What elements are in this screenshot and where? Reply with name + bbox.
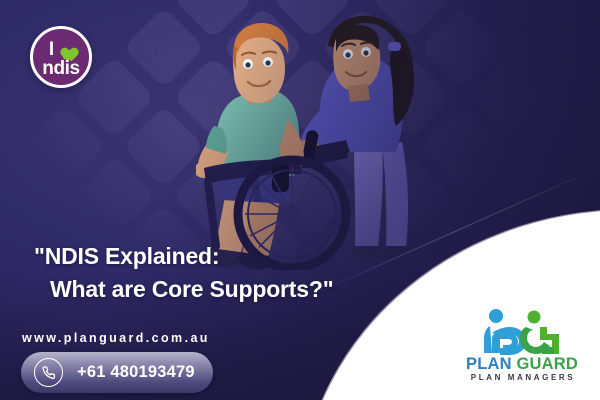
plan-guard-tagline: PLAN MANAGERS [456, 374, 588, 382]
page-title: "NDIS Explained: What are Core Supports?… [34, 240, 434, 305]
ndis-logo-dot-icon [63, 55, 67, 59]
ndis-logo-i-text: I [49, 40, 54, 59]
plan-guard-wordmark: PLAN GUARD [456, 356, 588, 373]
phone-number: +61 480193479 [77, 363, 195, 382]
ndis-logo-top-row: I [49, 39, 73, 60]
phone-icon [34, 358, 63, 387]
ndis-promo-banner: I ndis "NDIS Explained: What are Core Su… [0, 0, 600, 400]
website-url[interactable]: www.planguard.com.au [22, 331, 210, 345]
headline-line-2: What are Core Supports?" [34, 273, 434, 306]
ndis-logo-wordmark: ndis [42, 59, 79, 78]
headline-line-1: "NDIS Explained: [34, 243, 219, 269]
ndis-logo-word-text: ndis [42, 58, 79, 79]
plan-guard-word-guard: GUARD [517, 355, 579, 373]
plan-guard-logo: PLAN GUARD PLAN MANAGERS [456, 307, 588, 383]
phone-contact-pill[interactable]: +61 480193479 [21, 352, 213, 393]
ndis-logo: I ndis [30, 26, 92, 88]
plan-guard-mark-icon [456, 307, 588, 355]
plan-guard-word-plan: PLAN [466, 355, 512, 373]
